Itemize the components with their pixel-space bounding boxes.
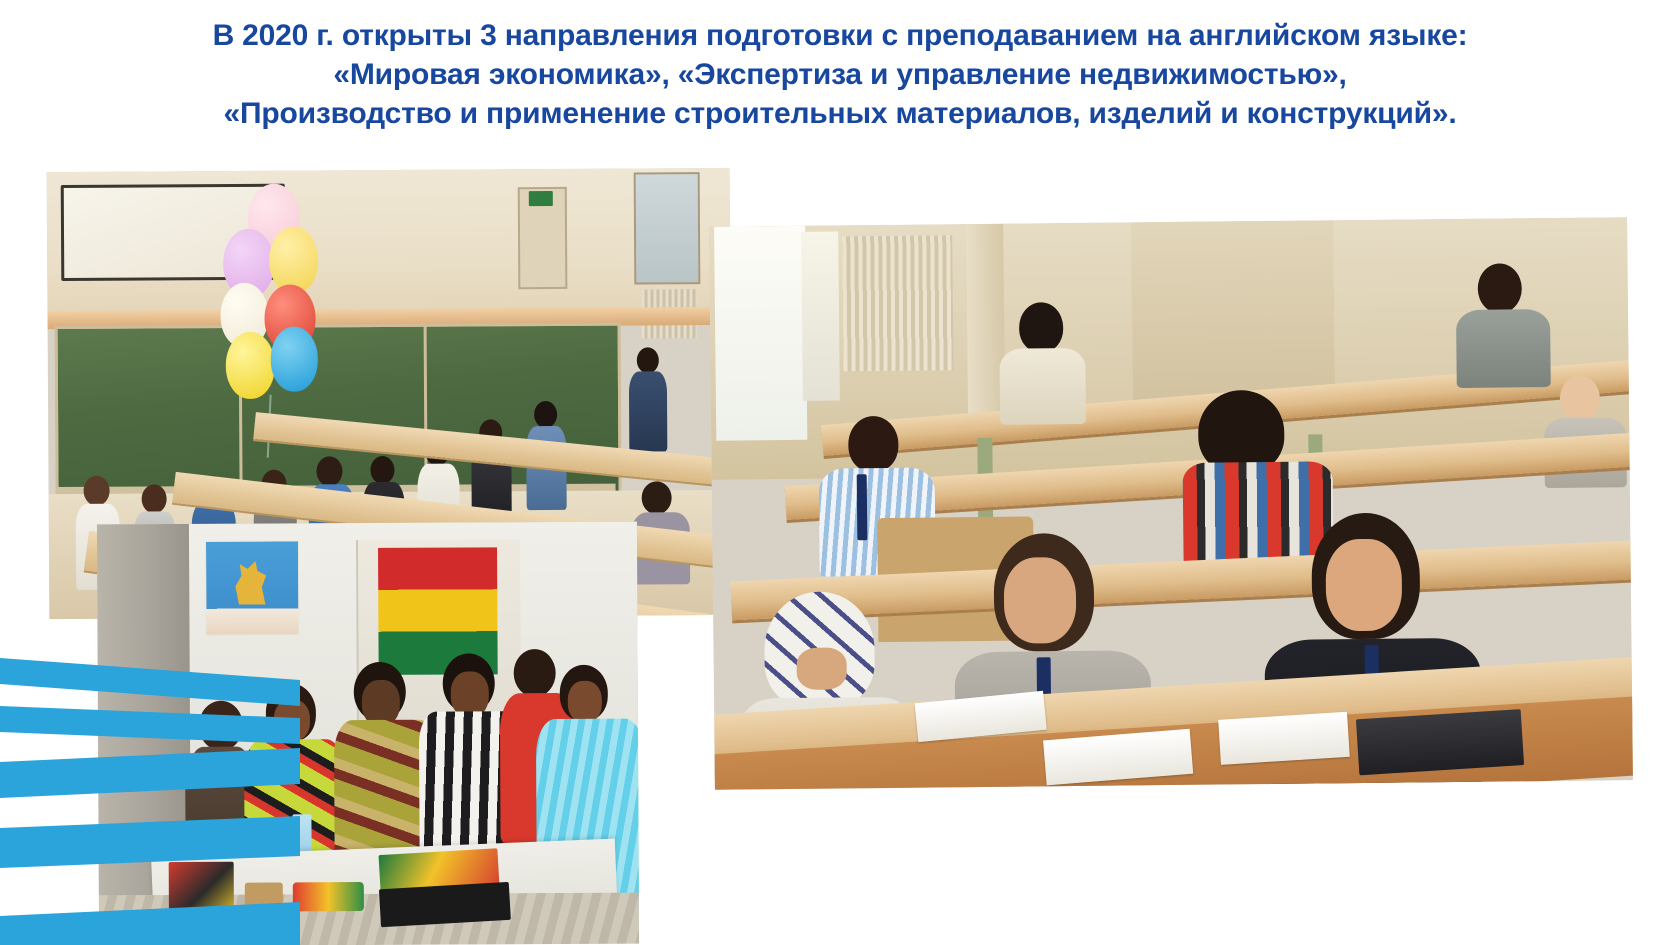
- lion-emblem-icon: [230, 556, 274, 604]
- exhibition-concrete-column: [97, 524, 191, 896]
- slide-canvas: В 2020 г. открыты 3 направления подготов…: [0, 0, 1680, 945]
- balloon-yellow: [269, 226, 319, 293]
- lecture-hall-students-photo: [709, 217, 1633, 790]
- lecture-hall-window: [714, 226, 808, 441]
- craft-textile: [169, 861, 234, 916]
- international-exhibition-photo: [97, 522, 639, 945]
- title-line-2: «Мировая экономика», «Экспертиза и управ…: [0, 55, 1680, 94]
- page-title: В 2020 г. открыты 3 направления подготов…: [0, 16, 1680, 133]
- classroom-window: [634, 173, 700, 285]
- city-coat-of-arms: [205, 540, 299, 635]
- title-line-1-suffix: открыты 3 направления подготовки с препо…: [334, 19, 1468, 52]
- title-line-1-bold: 2020 г.: [242, 19, 334, 52]
- craft-beads: [293, 882, 363, 912]
- title-line-1-prefix: В: [213, 19, 243, 52]
- lecture-hall-wall-panel: [1131, 220, 1335, 402]
- balloon-blue: [270, 327, 318, 392]
- notebook-folder: [1356, 710, 1524, 777]
- lecture-hall-radiator: [842, 236, 954, 372]
- title-line-3: «Производство и применение строительных …: [0, 94, 1680, 133]
- craft-display-tray: [379, 882, 511, 927]
- craft-wooden-figurine: [245, 882, 283, 912]
- paper-sheets: [1218, 712, 1349, 765]
- lecture-hall-window: [801, 231, 839, 400]
- balloon-yellow: [225, 332, 275, 399]
- title-line-1: В 2020 г. открыты 3 направления подготов…: [0, 16, 1680, 55]
- exit-sign-icon: [528, 191, 553, 205]
